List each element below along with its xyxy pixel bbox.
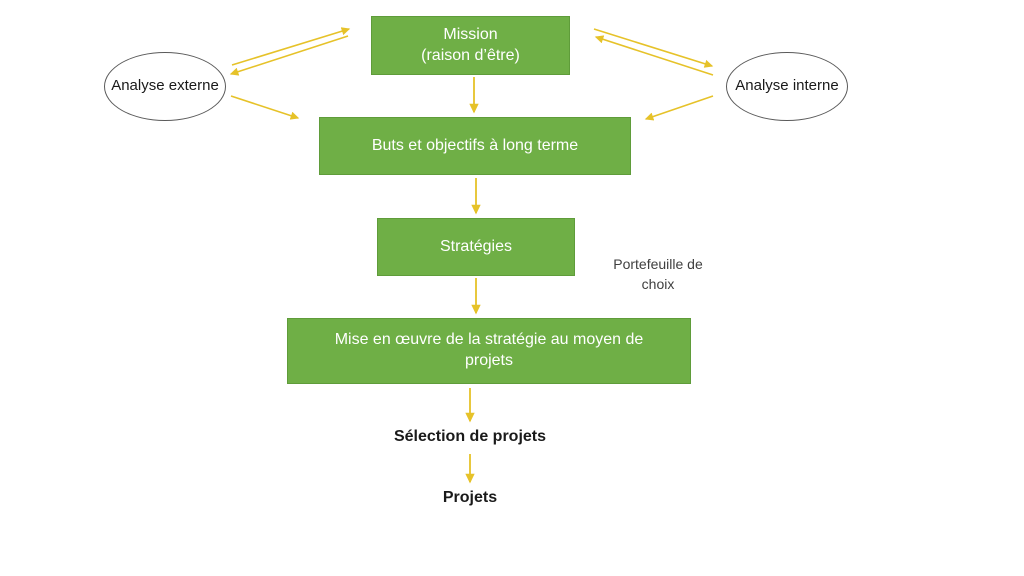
edge-interne-to-buts	[646, 96, 713, 119]
node-projets: Projets	[390, 489, 550, 507]
edge-mission-to-externe	[231, 36, 348, 74]
node-analyse-externe-line2: externe	[169, 77, 219, 94]
edge-externe-to-mission	[232, 29, 349, 65]
annotation-portefeuille-line1: Portefeuille	[613, 256, 683, 272]
node-strategies[interactable]: Stratégies	[377, 218, 575, 276]
node-strategies-label: Stratégies	[440, 237, 512, 258]
node-mise-en-oeuvre-line2: projets	[335, 351, 644, 372]
node-mise-en-oeuvre[interactable]: Mise en œuvre de la stratégie au moyen d…	[287, 318, 691, 384]
node-analyse-interne[interactable]: Analyse interne	[726, 52, 848, 121]
node-analyse-externe[interactable]: Analyse externe	[104, 52, 226, 121]
node-selection-de-projets: Sélection de projets	[350, 428, 590, 446]
node-analyse-interne-line1: Analyse	[735, 77, 788, 94]
diagram-canvas: Mission (raison d’être) Analyse externe …	[0, 0, 1024, 576]
annotation-portefeuille-de-choix: Portefeuille de choix	[596, 255, 720, 294]
node-mission-line2: (raison d’être)	[421, 46, 520, 67]
node-buts-objectifs[interactable]: Buts et objectifs à long terme	[319, 117, 631, 175]
node-projets-label: Projets	[443, 489, 497, 506]
node-selection-de-projets-label: Sélection de projets	[394, 428, 546, 445]
node-buts-objectifs-label: Buts et objectifs à long terme	[372, 136, 578, 157]
node-analyse-externe-line1: Analyse	[111, 77, 164, 94]
node-mission-line1: Mission	[421, 25, 520, 46]
edge-externe-to-buts	[231, 96, 298, 118]
node-mise-en-oeuvre-line1: Mise en œuvre de la stratégie au moyen d…	[335, 330, 644, 351]
node-analyse-interne-line2: interne	[793, 77, 839, 94]
edge-interne-to-mission	[594, 29, 712, 66]
node-mission[interactable]: Mission (raison d’être)	[371, 16, 570, 75]
edge-mission-to-interne	[596, 37, 713, 75]
